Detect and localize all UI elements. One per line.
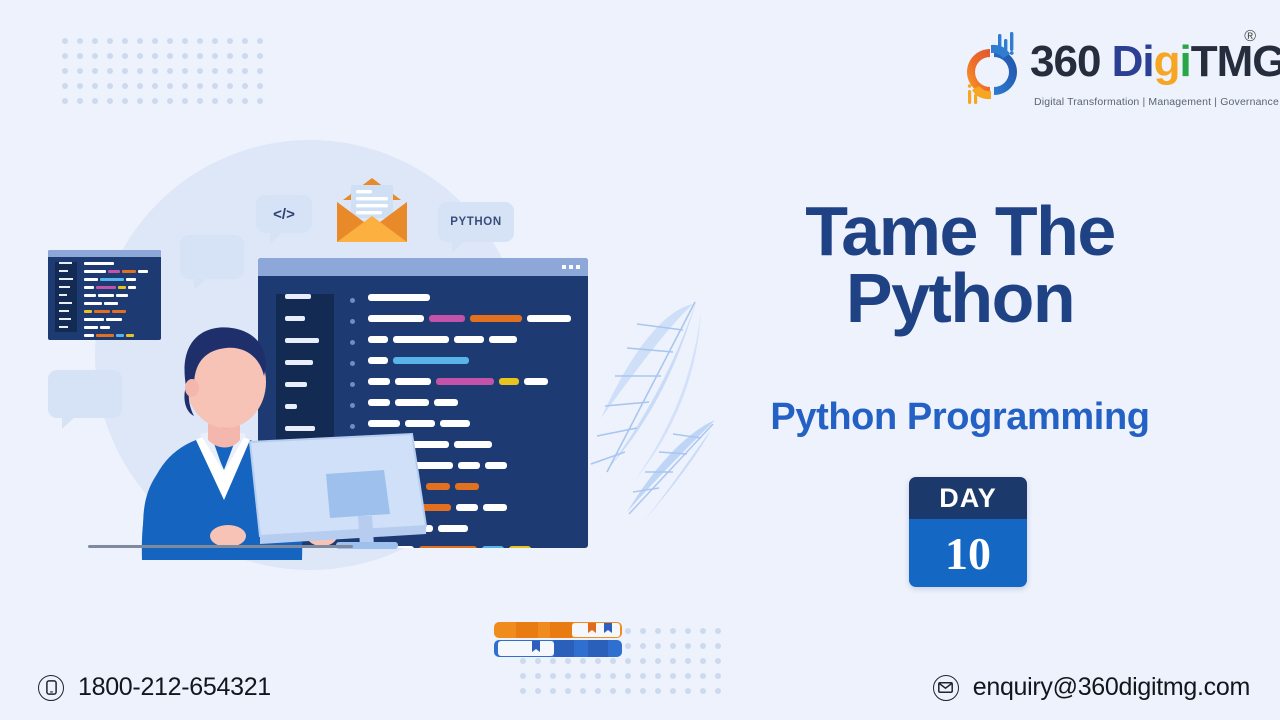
mini-code-token [100,278,124,281]
dot [107,83,113,89]
desk-surface-line [88,545,353,548]
page-subtitle: Python Programming [700,396,1220,439]
dot [137,83,143,89]
dot [580,673,586,679]
dot [550,688,556,694]
dot [92,83,98,89]
dot [197,83,203,89]
dot [685,673,691,679]
palm-leaves-decoration [575,290,725,540]
mini-code-token [84,286,94,289]
dot [212,38,218,44]
slide-canvas: ® 360 DigiTMG Digital Transformation | M… [0,0,1280,720]
dot [565,688,571,694]
dot [655,673,661,679]
dot [700,673,706,679]
mini-code-token [84,270,106,273]
dot [197,98,203,104]
code-token [436,378,494,385]
dot [92,53,98,59]
dot [197,68,203,74]
mini-code-token [84,262,114,265]
mini-code-token [84,294,96,297]
mini-code-token [128,286,136,289]
code-token [456,504,478,511]
dot [655,628,661,634]
mini-code-line [84,262,156,265]
dot [640,673,646,679]
dot [137,98,143,104]
speech-bubble-decorative-1 [180,235,244,279]
dot [685,688,691,694]
dot [715,673,721,679]
dot [670,643,676,649]
speech-bubble-code: </> [256,195,312,233]
dot [595,688,601,694]
code-window-titlebar [258,258,588,276]
footer-phone-text: 1800-212-654321 [78,673,271,702]
mini-code-token [118,286,126,289]
logo-mark-icon [958,32,1024,106]
mini-window-titlebar [48,250,161,257]
dot [257,98,263,104]
dot [167,98,173,104]
dot [670,673,676,679]
logo-tagline: Digital Transformation | Management | Go… [1034,96,1279,108]
dot [62,98,68,104]
open-envelope-icon [335,178,409,244]
mini-code-token [84,278,98,281]
mini-code-token [98,294,114,297]
dot [670,658,676,664]
code-token [438,525,468,532]
page-title: Tame The Python [700,198,1220,332]
dot [715,658,721,664]
dot [625,688,631,694]
code-token [489,336,517,343]
code-token [483,504,507,511]
dot [550,673,556,679]
dot [655,688,661,694]
title-line-1: Tame The [700,198,1220,265]
dot [77,53,83,59]
dot [610,688,616,694]
footer-email-text: enquiry@360digitmg.com [973,673,1250,702]
dot [167,83,173,89]
dot [257,53,263,59]
dot [137,53,143,59]
mini-code-line [84,278,156,281]
dot [715,688,721,694]
dot [655,658,661,664]
footer-phone[interactable]: 1800-212-654321 [38,673,271,702]
dot [107,38,113,44]
dot [640,643,646,649]
dot [77,38,83,44]
dot [242,53,248,59]
dot [700,688,706,694]
dot [137,68,143,74]
dot [520,673,526,679]
dot [227,68,233,74]
dot [77,98,83,104]
dot [565,673,571,679]
dot [122,38,128,44]
dot [122,83,128,89]
dot [212,98,218,104]
logo-wordmark: 360 DigiTMG [1030,40,1280,84]
dot [107,53,113,59]
dot [62,68,68,74]
dot [152,38,158,44]
code-token [434,399,458,406]
dot [257,68,263,74]
dot [227,38,233,44]
dot [257,83,263,89]
dot [700,628,706,634]
dot [152,53,158,59]
dot [122,98,128,104]
dot [685,628,691,634]
dot [62,53,68,59]
dot [685,643,691,649]
dot [227,98,233,104]
dot [77,68,83,74]
dot [670,688,676,694]
dot [212,53,218,59]
dot [242,68,248,74]
code-token [524,378,548,385]
dot [640,658,646,664]
mini-code-token [96,286,116,289]
dot [535,673,541,679]
dot [715,628,721,634]
dot [520,688,526,694]
code-token [455,483,479,490]
sidebar-line [285,294,311,299]
code-token [527,315,571,322]
mini-code-line [84,270,156,273]
code-token [454,336,484,343]
logo-text-i-second: i [1180,37,1191,86]
mini-window-sidebar [55,262,77,332]
brand-logo: ® 360 DigiTMG Digital Transformation | M… [958,26,1258,118]
dot [92,38,98,44]
dot [655,643,661,649]
code-token [429,315,465,322]
dot [610,673,616,679]
code-token [509,546,531,548]
dot [715,643,721,649]
code-token [482,546,504,548]
dot [700,643,706,649]
code-token [440,420,470,427]
dot [167,38,173,44]
dot [580,688,586,694]
code-token [499,378,519,385]
mini-code-token [116,294,128,297]
dot-grid-pattern-top-left [62,38,263,104]
day-badge-number: 10 [909,519,1027,587]
dot [107,68,113,74]
dot [242,83,248,89]
dot [107,98,113,104]
dot [212,68,218,74]
mini-code-line [84,294,156,297]
dot [685,658,691,664]
dot [152,98,158,104]
dot [167,53,173,59]
code-token [454,441,492,448]
dot [625,673,631,679]
mini-code-token [84,334,94,337]
mobile-phone-icon [38,675,64,701]
dot [182,98,188,104]
stacked-books [492,620,632,668]
code-token [485,462,507,469]
title-line-2: Python [700,265,1220,332]
day-badge-label: DAY [909,477,1027,519]
dot [152,83,158,89]
logo-text-i-first: i [1142,37,1153,86]
envelope-icon [933,675,959,701]
desktop-monitor [240,430,430,560]
mini-code-line [84,286,156,289]
dot [182,83,188,89]
dot [62,83,68,89]
dot [152,68,158,74]
dot [535,688,541,694]
dot [122,53,128,59]
logo-text-g: g [1154,37,1180,86]
footer-email[interactable]: enquiry@360digitmg.com [933,673,1250,702]
dot [197,53,203,59]
dot [640,628,646,634]
dot [62,38,68,44]
logo-text-tmg: TMG [1191,37,1280,86]
logo-text-360: 360 [1030,37,1112,86]
day-badge: DAY 10 [909,477,1027,587]
dot [167,68,173,74]
speech-bubble-python: PYTHON [438,202,514,242]
mini-code-token [84,326,98,329]
mini-code-token [138,270,148,273]
dot [640,688,646,694]
mini-code-token [84,310,92,313]
dot [595,673,601,679]
dot [182,38,188,44]
window-control-dots [562,265,580,269]
dot [670,628,676,634]
dot [122,68,128,74]
dot [92,98,98,104]
mini-code-token [122,270,136,273]
dot [242,98,248,104]
mini-code-token [108,270,120,273]
dot [242,38,248,44]
dot [137,38,143,44]
dot [700,658,706,664]
logo-text-d: D [1112,37,1143,86]
dot [257,38,263,44]
dot [212,83,218,89]
dot [92,68,98,74]
mini-code-token [126,278,136,281]
dot [182,53,188,59]
dot [77,83,83,89]
dot [182,68,188,74]
code-token [470,315,522,322]
hero-illustration: </> PYTHON [0,120,720,580]
code-token [458,462,480,469]
dot [227,83,233,89]
dot [197,38,203,44]
dot [227,53,233,59]
